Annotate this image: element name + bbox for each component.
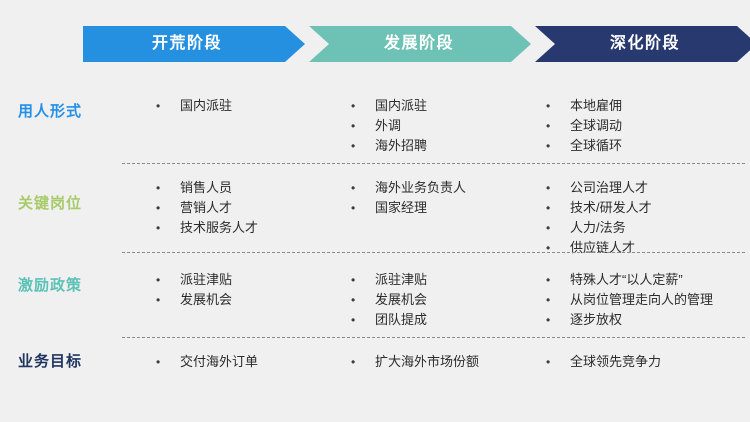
list-item: 交付海外订单 <box>152 352 347 372</box>
bullet-list: 销售人员 营销人才 技术服务人才 <box>152 178 347 238</box>
list-item: 供应链人才 <box>542 238 747 258</box>
list-item: 全球领先竞争力 <box>542 352 747 372</box>
list-item: 海外业务负责人 <box>347 178 542 198</box>
list-item: 发展机会 <box>152 290 347 310</box>
bullet-list: 国内派驻 <box>152 96 347 116</box>
list-item: 派驻津贴 <box>152 270 347 290</box>
list-item: 团队提成 <box>347 310 542 330</box>
list-item: 全球调动 <box>542 116 747 136</box>
list-item: 外调 <box>347 116 542 136</box>
phase-chevron-3[interactable]: 深化阶段 <box>535 26 750 62</box>
list-item: 派驻津贴 <box>347 270 542 290</box>
slide-canvas: 开荒阶段 发展阶段 深化阶段 用人形式 国内派驻 国内派驻 外调 海外招聘 <box>0 0 750 422</box>
phase-chevron-1[interactable]: 开荒阶段 <box>83 26 305 62</box>
list-item: 技术/研发人才 <box>542 198 747 218</box>
list-item: 国内派驻 <box>347 96 542 116</box>
cell-row3-col1: 派驻津贴 发展机会 <box>152 270 347 310</box>
cell-row1-col3: 本地雇佣 全球调动 全球循环 <box>542 96 747 156</box>
cell-row4-col1: 交付海外订单 <box>152 352 347 372</box>
row-label-employment-form: 用人形式 <box>18 104 82 119</box>
bullet-list: 派驻津贴 发展机会 团队提成 <box>347 270 542 330</box>
bullet-list: 国内派驻 外调 海外招聘 <box>347 96 542 156</box>
list-item: 本地雇佣 <box>542 96 747 116</box>
row-label-incentive-policy: 激励政策 <box>18 278 82 293</box>
row-divider-1 <box>122 163 745 164</box>
bullet-list: 扩大海外市场份额 <box>347 352 542 372</box>
bullet-list: 公司治理人才 技术/研发人才 人力/法务 供应链人才 <box>542 178 747 258</box>
cell-row2-col2: 海外业务负责人 国家经理 <box>347 178 542 218</box>
list-item: 公司治理人才 <box>542 178 747 198</box>
bullet-list: 特殊人才“以人定薪” 从岗位管理走向人的管理 逐步放权 <box>542 270 747 330</box>
cell-row2-col3: 公司治理人才 技术/研发人才 人力/法务 供应链人才 <box>542 178 747 258</box>
list-item: 国家经理 <box>347 198 542 218</box>
phase-chevron-2[interactable]: 发展阶段 <box>309 26 531 62</box>
cell-row3-col2: 派驻津贴 发展机会 团队提成 <box>347 270 542 330</box>
cell-row4-col3: 全球领先竞争力 <box>542 352 747 372</box>
list-item: 人力/法务 <box>542 218 747 238</box>
list-item: 特殊人才“以人定薪” <box>542 270 747 290</box>
list-item: 技术服务人才 <box>152 218 347 238</box>
list-item: 扩大海外市场份额 <box>347 352 542 372</box>
bullet-list: 派驻津贴 发展机会 <box>152 270 347 310</box>
cell-row4-col2: 扩大海外市场份额 <box>347 352 542 372</box>
bullet-list: 全球领先竞争力 <box>542 352 747 372</box>
cell-row2-col1: 销售人员 营销人才 技术服务人才 <box>152 178 347 238</box>
cell-row3-col3: 特殊人才“以人定薪” 从岗位管理走向人的管理 逐步放权 <box>542 270 747 330</box>
list-item: 从岗位管理走向人的管理 <box>542 290 747 310</box>
bullet-list: 交付海外订单 <box>152 352 347 372</box>
cell-row1-col2: 国内派驻 外调 海外招聘 <box>347 96 542 156</box>
phase-label-1: 开荒阶段 <box>152 36 222 52</box>
bullet-list: 本地雇佣 全球调动 全球循环 <box>542 96 747 156</box>
list-item: 国内派驻 <box>152 96 347 116</box>
list-item: 海外招聘 <box>347 136 542 156</box>
phase-header-bar: 开荒阶段 发展阶段 深化阶段 <box>83 26 703 62</box>
list-item: 逐步放权 <box>542 310 747 330</box>
list-item: 发展机会 <box>347 290 542 310</box>
list-item: 全球循环 <box>542 136 747 156</box>
phase-label-3: 深化阶段 <box>610 36 680 52</box>
list-item: 营销人才 <box>152 198 347 218</box>
cell-row1-col1: 国内派驻 <box>152 96 347 116</box>
row-divider-3 <box>122 337 745 338</box>
row-label-business-goal: 业务目标 <box>18 354 82 369</box>
list-item: 销售人员 <box>152 178 347 198</box>
row-label-key-positions: 关键岗位 <box>18 196 82 211</box>
bullet-list: 海外业务负责人 国家经理 <box>347 178 542 218</box>
row-divider-2 <box>122 252 745 253</box>
phase-label-2: 发展阶段 <box>384 36 454 52</box>
